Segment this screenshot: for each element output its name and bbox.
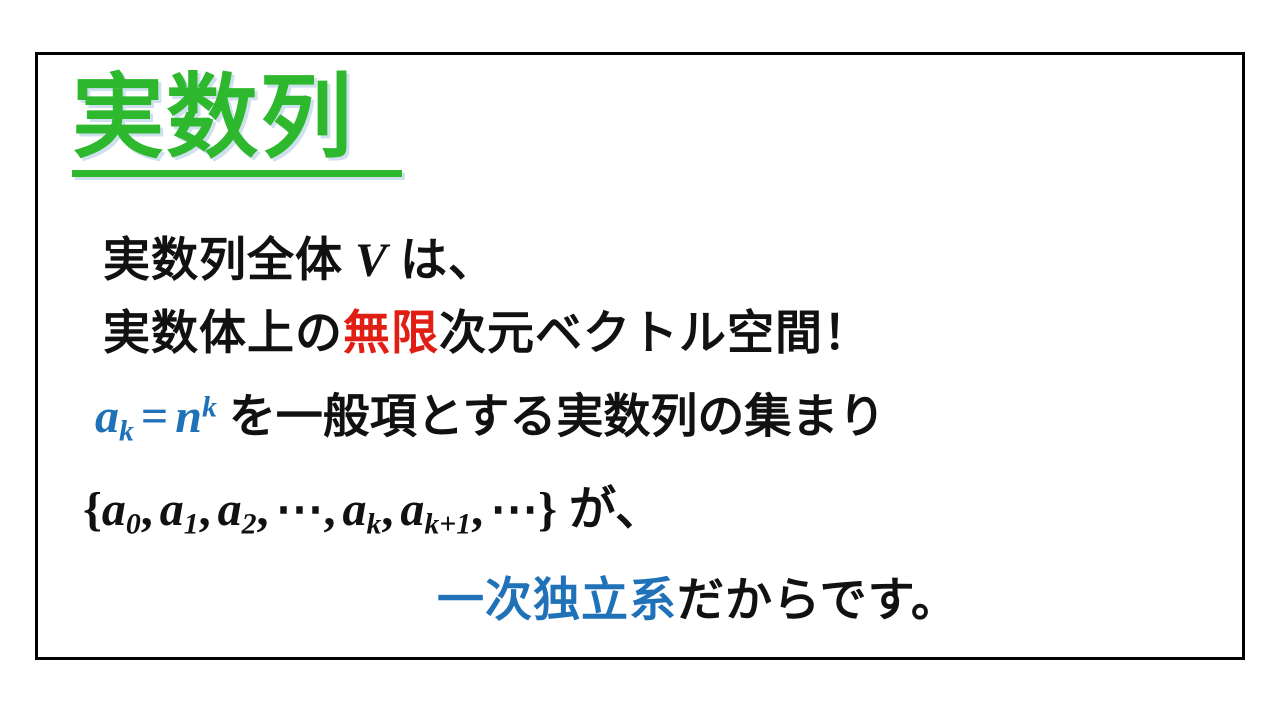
term-a2-base: a	[218, 483, 242, 536]
close-brace: }	[538, 483, 557, 536]
term-a1-sub: 1	[184, 507, 199, 540]
page-title: 実数列	[72, 72, 472, 164]
set-notation: {a0,a1,a2,⋯,ak,ak+1,⋯}	[83, 483, 557, 536]
line5-rest: だからです。	[677, 573, 959, 626]
line1-symbol-v: V	[355, 234, 388, 287]
line2-part1: 実数体上の	[103, 306, 343, 359]
line1-suffix: は、	[400, 233, 496, 286]
formula-a: a	[95, 390, 119, 443]
term-a0-sub: 0	[126, 507, 141, 540]
formula-equals: =	[141, 390, 168, 443]
body-line-2: 実数体上の無限次元ベクトル空間！	[35, 297, 1245, 369]
body-text-block: 実数列全体Vは、 実数体上の無限次元ベクトル空間！ ak=nkを一般項とする実数…	[35, 224, 1245, 638]
comma-1: ,	[141, 483, 153, 536]
title-underline	[72, 170, 402, 177]
ellipsis-1: ⋯	[276, 483, 324, 536]
line2-part2: 次元ベクトル空間！	[439, 306, 871, 359]
line5-highlight-ichiji-dokuritsukei: 一次独立系	[437, 573, 677, 626]
formula-a-sub: k	[119, 415, 134, 448]
ellipsis-2: ⋯	[490, 483, 538, 536]
line3-text: を一般項とする実数列の集まり	[229, 389, 886, 442]
comma-3: ,	[257, 483, 269, 536]
body-line-3: ak=nkを一般項とする実数列の集まり	[35, 369, 1245, 471]
line2-highlight-mugen: 無限	[343, 306, 439, 359]
formula-n-sup: k	[202, 391, 217, 424]
comma-2: ,	[199, 483, 211, 536]
body-line-1: 実数列全体Vは、	[35, 224, 1245, 297]
term-ak1-sub: k+1	[424, 507, 471, 540]
term-ak-sub: k	[367, 507, 382, 540]
line1-prefix: 実数列全体	[103, 233, 343, 286]
term-ak-base: a	[343, 483, 367, 536]
term-ak1-base: a	[400, 483, 424, 536]
slide-canvas: 実数列 実数列全体Vは、 実数体上の無限次元ベクトル空間！ ak=nkを一般項と…	[0, 0, 1280, 720]
term-a0-base: a	[102, 483, 126, 536]
formula-ak-equals-nk: ak=nk	[95, 390, 217, 443]
formula-n: n	[175, 390, 202, 443]
term-a2-sub: 2	[242, 507, 257, 540]
comma-4: ,	[324, 483, 336, 536]
body-line-5: 一次独立系だからです。	[35, 562, 1245, 638]
title-block: 実数列	[72, 72, 472, 177]
open-brace: {	[83, 483, 102, 536]
term-a1-base: a	[160, 483, 184, 536]
line4-suffix: が、	[569, 482, 662, 535]
body-line-4: {a0,a1,a2,⋯,ak,ak+1,⋯}が、	[35, 471, 1245, 562]
comma-5: ,	[381, 483, 393, 536]
comma-6: ,	[471, 483, 483, 536]
